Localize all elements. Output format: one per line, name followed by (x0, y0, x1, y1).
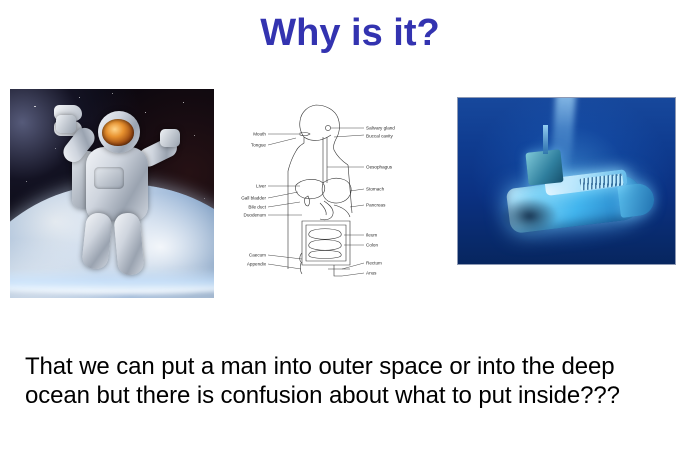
diagram-label-anus: Anus (366, 271, 377, 276)
gold-visor (102, 119, 134, 146)
diagram-label-gall-bladder: Gall bladder (241, 196, 266, 201)
slide: Why is it? (0, 0, 700, 460)
diagram-label-liver: Liver (256, 184, 266, 189)
astronaut-figure (54, 105, 182, 281)
diagram-label-oesophagus: Oesophagus (366, 165, 393, 170)
diagram-label-buccal-cavity: Buccal cavity (366, 134, 394, 139)
diagram-label-stomach: Stomach (366, 187, 385, 192)
astronaut-left-hand (56, 115, 76, 133)
diagram-label-tongue: Tongue (251, 143, 267, 148)
digestive-system-diagram[interactable]: Mouth Tongue Liver Gall bladder Bile duc… (238, 93, 424, 289)
astronaut-photo[interactable] (10, 89, 214, 298)
astronaut-right-hand (160, 129, 180, 147)
page-title: Why is it? (0, 10, 700, 56)
diagram-label-mouth: Mouth (253, 132, 266, 137)
submersible-conning-tower (526, 149, 564, 186)
chest-control-unit (94, 167, 124, 189)
diagram-label-bile-duct: Bile duct (248, 205, 266, 210)
diagram-label-colon: Colon (366, 243, 378, 248)
submersible-shadow (501, 198, 557, 235)
submersible-mast (543, 125, 548, 155)
deep-sea-submersible-photo[interactable] (457, 97, 676, 265)
astronaut-left-leg (81, 212, 113, 270)
diagram-label-rectum: Rectum (366, 261, 382, 266)
diagram-label-caecum: Caecum (249, 253, 266, 258)
diagram-label-duodenum: Duodenum (244, 213, 267, 218)
digestive-diagram-svg: Mouth Tongue Liver Gall bladder Bile duc… (238, 93, 424, 289)
diagram-label-appendix: Appendix (247, 262, 267, 267)
astronaut-right-leg (113, 212, 144, 276)
diagram-label-salivary-gland: Salivary gland (366, 126, 395, 131)
body-text: That we can put a man into outer space o… (25, 352, 675, 410)
diagram-label-ileum: Ileum (366, 233, 377, 238)
diagram-label-pancreas: Pancreas (366, 203, 386, 208)
